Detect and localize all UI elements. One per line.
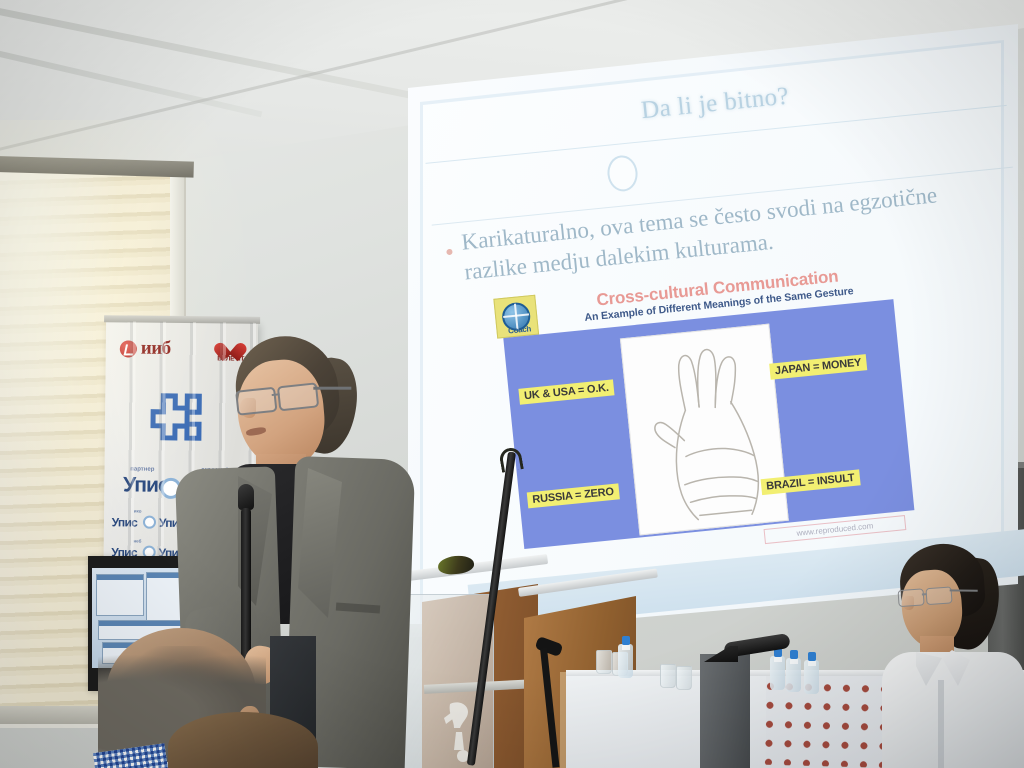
water-bottle [786, 658, 801, 692]
seated-panelist [876, 544, 1024, 768]
hand-gesture-drawing [622, 326, 784, 531]
glasses-lens-left [235, 387, 277, 416]
projection-screen: Da li je bitno? Karikaturalno, ova tema … [398, 24, 1018, 624]
glasses-temple [313, 387, 351, 390]
table-microphone [706, 638, 790, 658]
cross-cultural-figure: Coach Cross-cultural Communication An Ex… [491, 259, 917, 579]
photograph-scene: Da li je bitno? Karikaturalno, ova tema … [0, 0, 1024, 768]
drinking-glass [596, 650, 612, 674]
table-microphone-base [704, 646, 738, 662]
bullet-marker-icon [446, 249, 453, 256]
panelist-shirt-placket [938, 680, 944, 768]
glasses-bridge [922, 593, 927, 595]
microphone-head-icon [238, 484, 254, 510]
slide-title: Da li je bitno? [535, 72, 896, 136]
glasses-temple [950, 589, 978, 591]
slide-circle-ornament [606, 154, 639, 193]
drinking-glass [676, 666, 692, 690]
water-bottle [804, 660, 819, 694]
water-bottle [770, 656, 785, 690]
window-daylight-glow [0, 172, 120, 472]
poster-window-titlebar [97, 575, 143, 580]
poster-window [96, 574, 144, 616]
dark-equipment-panel [700, 654, 750, 768]
drinking-glass [660, 664, 676, 688]
glasses-lens-left [898, 588, 925, 607]
audience-head [168, 712, 318, 768]
water-bottle [618, 644, 633, 678]
slide-bullet-text: Karikaturalno, ova tema se često svodi n… [460, 174, 1003, 288]
coach-logo-icon: Coach [493, 295, 539, 339]
glasses-lens-right [925, 586, 952, 605]
audience-member-second [168, 712, 318, 768]
